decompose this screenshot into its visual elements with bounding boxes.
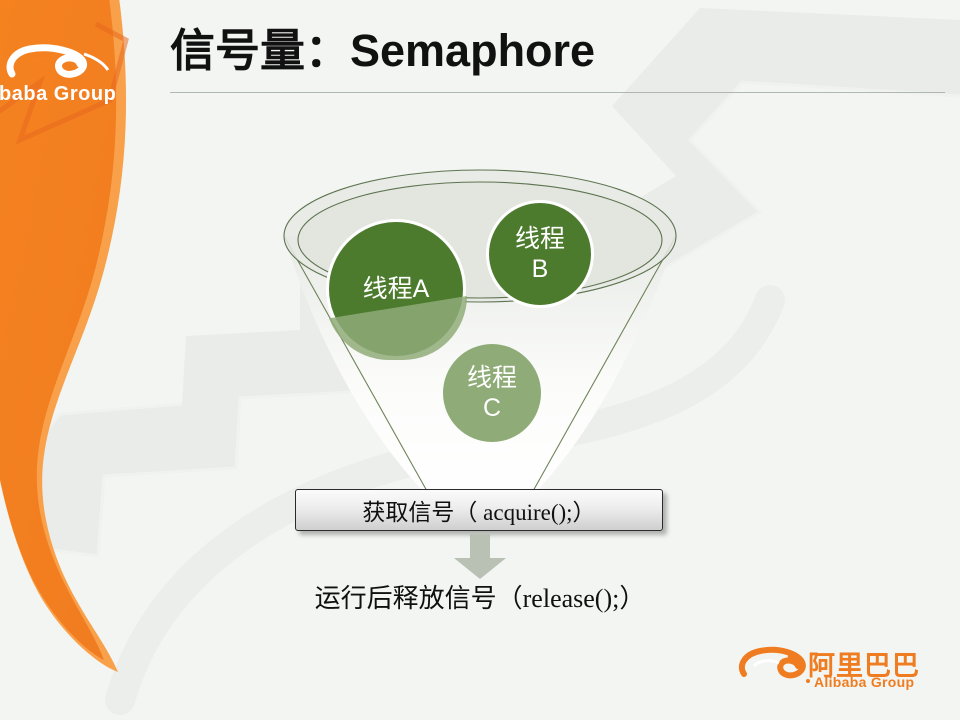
alibaba-logo-bottom-right: 阿里巴巴 Alibaba Group xyxy=(736,644,942,692)
thread-circle-c[interactable]: 线程 C xyxy=(443,344,541,442)
thread-circle-a[interactable]: 线程A xyxy=(326,219,466,359)
acquire-signal-button[interactable]: 获取信号（ acquire();） xyxy=(295,489,663,531)
alibaba-mark-bottom-icon xyxy=(736,644,806,688)
thread-b-label: 线程 xyxy=(515,224,565,254)
alibaba-group-wordmark-bottom: Alibaba Group xyxy=(814,674,914,690)
registered-dot-icon xyxy=(806,679,810,683)
thread-a-label: 线程A xyxy=(363,274,430,304)
release-signal-text: 运行后释放信号（release();） xyxy=(0,578,960,615)
thread-c-label: 线程 xyxy=(467,363,517,393)
thread-a-shade-overlay xyxy=(325,296,467,360)
arrow-down-icon xyxy=(452,534,508,580)
thread-c-sublabel: C xyxy=(483,393,501,423)
presentation-slide: Alibaba Group 信号量：Semaphore 线程A 线程 B 线程 … xyxy=(0,0,960,720)
semaphore-diagram: 线程A 线程 B 线程 C 获取信号（ acquire();） 运行后释放信号（… xyxy=(0,0,960,720)
acquire-signal-label: 获取信号（ acquire();） xyxy=(362,493,595,527)
thread-b-sublabel: B xyxy=(532,254,549,284)
thread-circle-b[interactable]: 线程 B xyxy=(486,200,594,308)
